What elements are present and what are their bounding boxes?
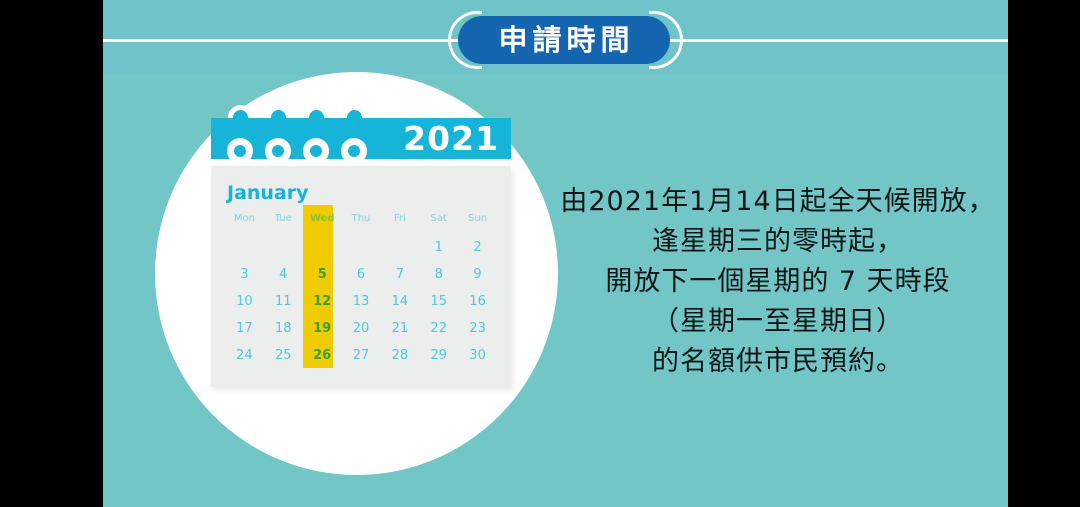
title-rule-left (103, 39, 458, 42)
calendar-day-cell (225, 239, 264, 257)
calendar-day-cell: 11 (264, 293, 303, 311)
letterbox-bar-right (1008, 0, 1080, 507)
notice-text-block: 由2021年1月14日起全天候開放， 逢星期三的零時起， 開放下一個星期的 7 … (558, 182, 998, 382)
calendar-day-cell: 8 (419, 266, 458, 284)
calendar-dow-mon: Mon (225, 210, 264, 230)
calendar-day-cell: 6 (342, 266, 381, 284)
calendar-day-cell: 17 (225, 320, 264, 338)
calendar-day-cell: 21 (380, 320, 419, 338)
calendar-day-cell: 2 (458, 239, 497, 257)
calendar-day-cell: 27 (342, 347, 381, 365)
calendar-day-cell: 14 (380, 293, 419, 311)
calendar-day-cell (303, 239, 342, 257)
calendar-day-cell (380, 239, 419, 257)
calendar-day-cell: 7 (380, 266, 419, 284)
slide-content: 申請時間 2021 January Mon (103, 0, 1008, 507)
calendar-day-cell (342, 239, 381, 257)
calendar-day-cell: 29 (419, 347, 458, 365)
screen: 申請時間 2021 January Mon (0, 0, 1080, 507)
calendar-day-cell: 16 (458, 293, 497, 311)
notice-line: （星期一至星期日） (558, 302, 998, 342)
calendar-day-cell: 15 (419, 293, 458, 311)
calendar-body: January Mon Tue Wed Thu Fri Sat Sun 1 (211, 166, 511, 387)
calendar-day-cell (264, 239, 303, 257)
calendar-dow-sun: Sun (458, 210, 497, 230)
calendar-day-cell: 23 (458, 320, 497, 338)
page-title: 申請時間 (458, 16, 670, 64)
notice-line: 的名額供市民預約。 (558, 342, 998, 382)
calendar-header: 2021 (211, 118, 511, 159)
calendar-day-cell: 28 (380, 347, 419, 365)
page-title-label: 申請時間 (493, 26, 634, 55)
calendar-day-cell: 10 (225, 293, 264, 311)
calendar-day-cell: 5 (303, 266, 342, 284)
binding-hole-icon (265, 138, 291, 164)
calendar-day-cell: 25 (264, 347, 303, 365)
calendar-day-cell: 4 (264, 266, 303, 284)
calendar-grid: Mon Tue Wed Thu Fri Sat Sun 1 2 3 4 (225, 210, 497, 365)
calendar-dow-thu: Thu (342, 210, 381, 230)
calendar-day-cell: 18 (264, 320, 303, 338)
calendar-day-cell: 20 (342, 320, 381, 338)
notice-line: 由2021年1月14日起全天候開放， (558, 182, 998, 222)
notice-line: 逢星期三的零時起， (558, 222, 998, 262)
calendar-day-cell: 26 (303, 347, 342, 365)
calendar-day-cell: 3 (225, 266, 264, 284)
calendar-dow-sat: Sat (419, 210, 458, 230)
calendar-day-cell: 9 (458, 266, 497, 284)
calendar-day-cell: 30 (458, 347, 497, 365)
calendar-day-cell: 22 (419, 320, 458, 338)
calendar-year: 2021 (403, 122, 499, 155)
calendar-day-cell: 1 (419, 239, 458, 257)
calendar-day-cell: 12 (303, 293, 342, 311)
title-rule-right (658, 39, 1008, 42)
calendar-widget: 2021 January Mon Tue Wed Thu Fri Sat Sun (211, 118, 511, 387)
calendar-dow-tue: Tue (264, 210, 303, 230)
calendar-day-cell: 13 (342, 293, 381, 311)
calendar-month-label: January (227, 182, 497, 204)
binding-hole-icon (341, 138, 367, 164)
calendar-dow-fri: Fri (380, 210, 419, 230)
calendar-day-cell: 24 (225, 347, 264, 365)
binding-hole-icon (303, 138, 329, 164)
calendar-dow-wed: Wed (303, 210, 342, 230)
binding-hole-icon (227, 138, 253, 164)
letterbox-bar-left (0, 0, 103, 507)
notice-line: 開放下一個星期的 7 天時段 (558, 262, 998, 302)
calendar-day-cell: 19 (303, 320, 342, 338)
